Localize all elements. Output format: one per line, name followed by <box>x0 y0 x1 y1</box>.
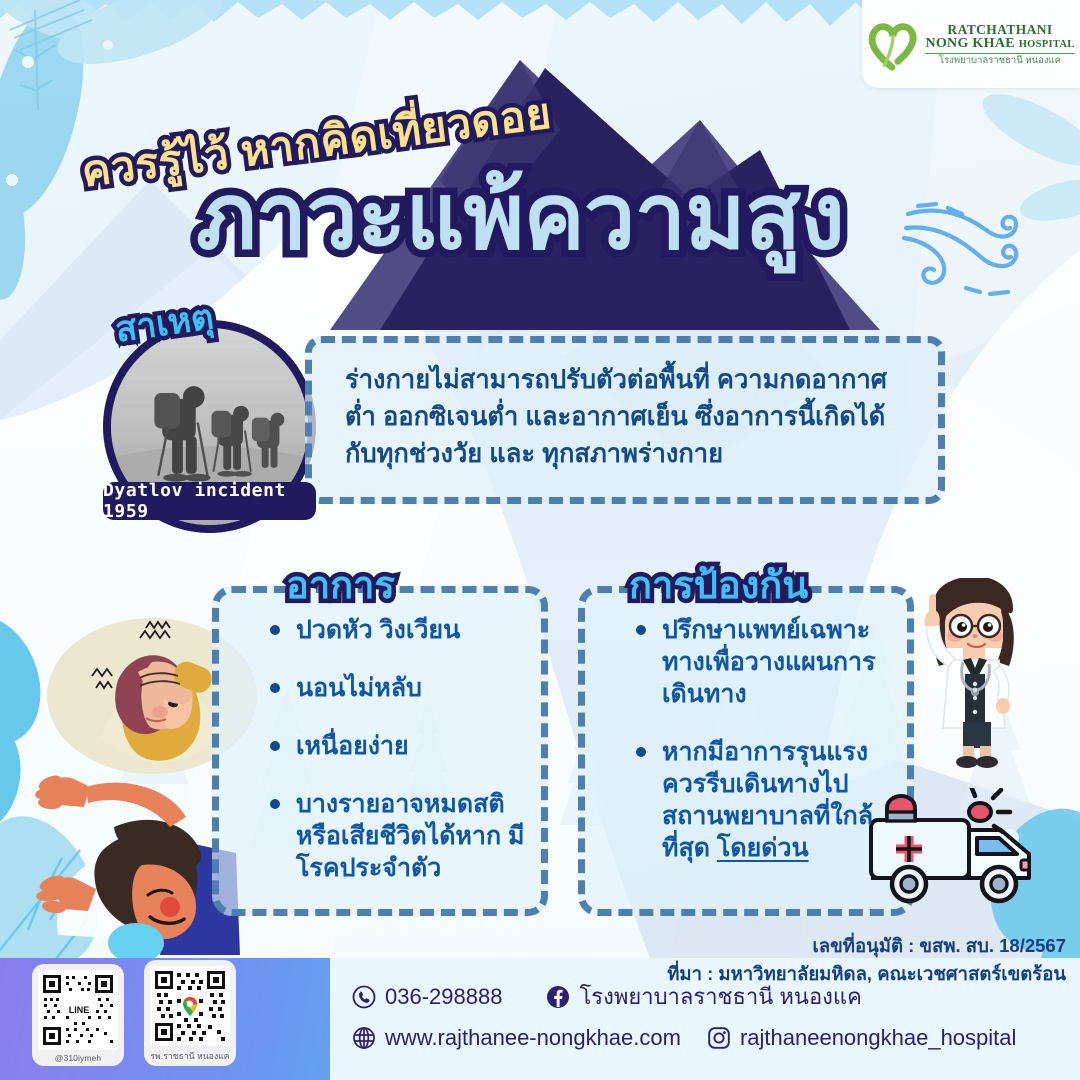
phone-number: 036-298888 <box>385 984 502 1010</box>
website-url: www.rajthanee-nongkhae.com <box>385 1025 681 1051</box>
list-item: นอนไม่หลับ <box>266 672 538 704</box>
instagram-icon <box>707 1026 731 1050</box>
phone-contact[interactable]: 036-298888 <box>352 984 502 1010</box>
facebook-name: โรงพยาบาลราชธานี หนองแค <box>579 979 861 1014</box>
approval-number: เลขที่อนุมัติ : ขสพ. สบ. 18/2567 <box>667 932 1066 960</box>
qr-card-maps[interactable]: รพ.ราชธานี หนองแค <box>144 960 236 1066</box>
logo-divider <box>925 53 1074 54</box>
wind-swirl-icon <box>896 192 1046 302</box>
photo-caption: Dyatlov incident 1959 <box>103 482 316 520</box>
line-qr-code[interactable]: LINE <box>38 970 118 1050</box>
globe-icon <box>352 1026 376 1050</box>
qr-card-line[interactable]: LINE @310iymeh <box>32 964 124 1066</box>
symptoms-heading: อาการ <box>286 554 395 615</box>
list-item: ปรึกษาแพทย์เฉพาะทางเพื่อวางแผนการเดินทาง <box>632 614 894 710</box>
logo-line-1: RATCHATHANI <box>947 23 1052 37</box>
logo-thai-name: โรงพยาบาลราชธานี หนองแค <box>939 56 1061 66</box>
logo-line-2: NONG KHAE HOSPITAL <box>925 37 1074 51</box>
instagram-handle: rajthaneenongkhae_hospital <box>740 1025 1016 1051</box>
page-title: ภาวะแพ้ความสูง <box>196 160 844 275</box>
contact-row-2: www.rajthanee-nongkhae.com rajthaneenong… <box>352 1025 1062 1051</box>
google-maps-qr-code[interactable] <box>150 966 230 1046</box>
facebook-contact[interactable]: โรงพยาบาลราชธานี หนองแค <box>546 979 861 1014</box>
logo-line-2-main: NONG KHAE <box>925 36 1014 51</box>
prevention-heading: การป้องกัน <box>629 554 808 615</box>
symptoms-list: ปวดหัว วิงเวียน นอนไม่หลับ เหนื่อยง่าย บ… <box>266 614 538 910</box>
heart-icon <box>863 15 921 73</box>
list-item: เหนื่อยง่าย <box>266 730 538 762</box>
contact-row-1: 036-298888 โรงพยาบาลราชธานี หนองแค <box>352 979 1062 1014</box>
qr-label-line: @310iymeh <box>38 1053 118 1063</box>
list-item: บางรายอาจหมดสติ หรือเสียชีวิตได้หาก มีโร… <box>266 788 538 884</box>
facebook-icon <box>546 985 570 1009</box>
svg-text:LINE: LINE <box>69 1005 90 1015</box>
phone-icon <box>352 985 376 1009</box>
logo-line-2-small: HOSPITAL <box>1019 39 1075 50</box>
photo-caption-text: Dyatlov incident 1959 <box>103 480 316 522</box>
cause-text: ร่างกายไม่สามารถปรับตัวต่อพื้นที่ ความกด… <box>345 362 915 474</box>
urgent-word: โดยด่วน <box>717 834 809 862</box>
prevention-list: ปรึกษาแพทย์เฉพาะทางเพื่อวางแผนการเดินทาง… <box>632 614 894 890</box>
website-contact[interactable]: www.rajthanee-nongkhae.com <box>352 1025 681 1051</box>
instagram-contact[interactable]: rajthaneenongkhae_hospital <box>707 1025 1016 1051</box>
qr-label-maps: รพ.ราชธานี หนองแค <box>150 1049 230 1063</box>
poster-root: RATCHATHANI NONG KHAE HOSPITAL โรงพยาบาล… <box>0 0 1080 1080</box>
hospital-logo: RATCHATHANI NONG KHAE HOSPITAL โรงพยาบาล… <box>862 0 1080 88</box>
list-item: ปวดหัว วิงเวียน <box>266 614 538 646</box>
list-item: หากมีอาการรุนแรงควรรีบเดินทางไปสถานพยาบา… <box>632 736 894 864</box>
contact-info: 036-298888 โรงพยาบาลราชธานี หนองแค <box>352 979 1062 1062</box>
